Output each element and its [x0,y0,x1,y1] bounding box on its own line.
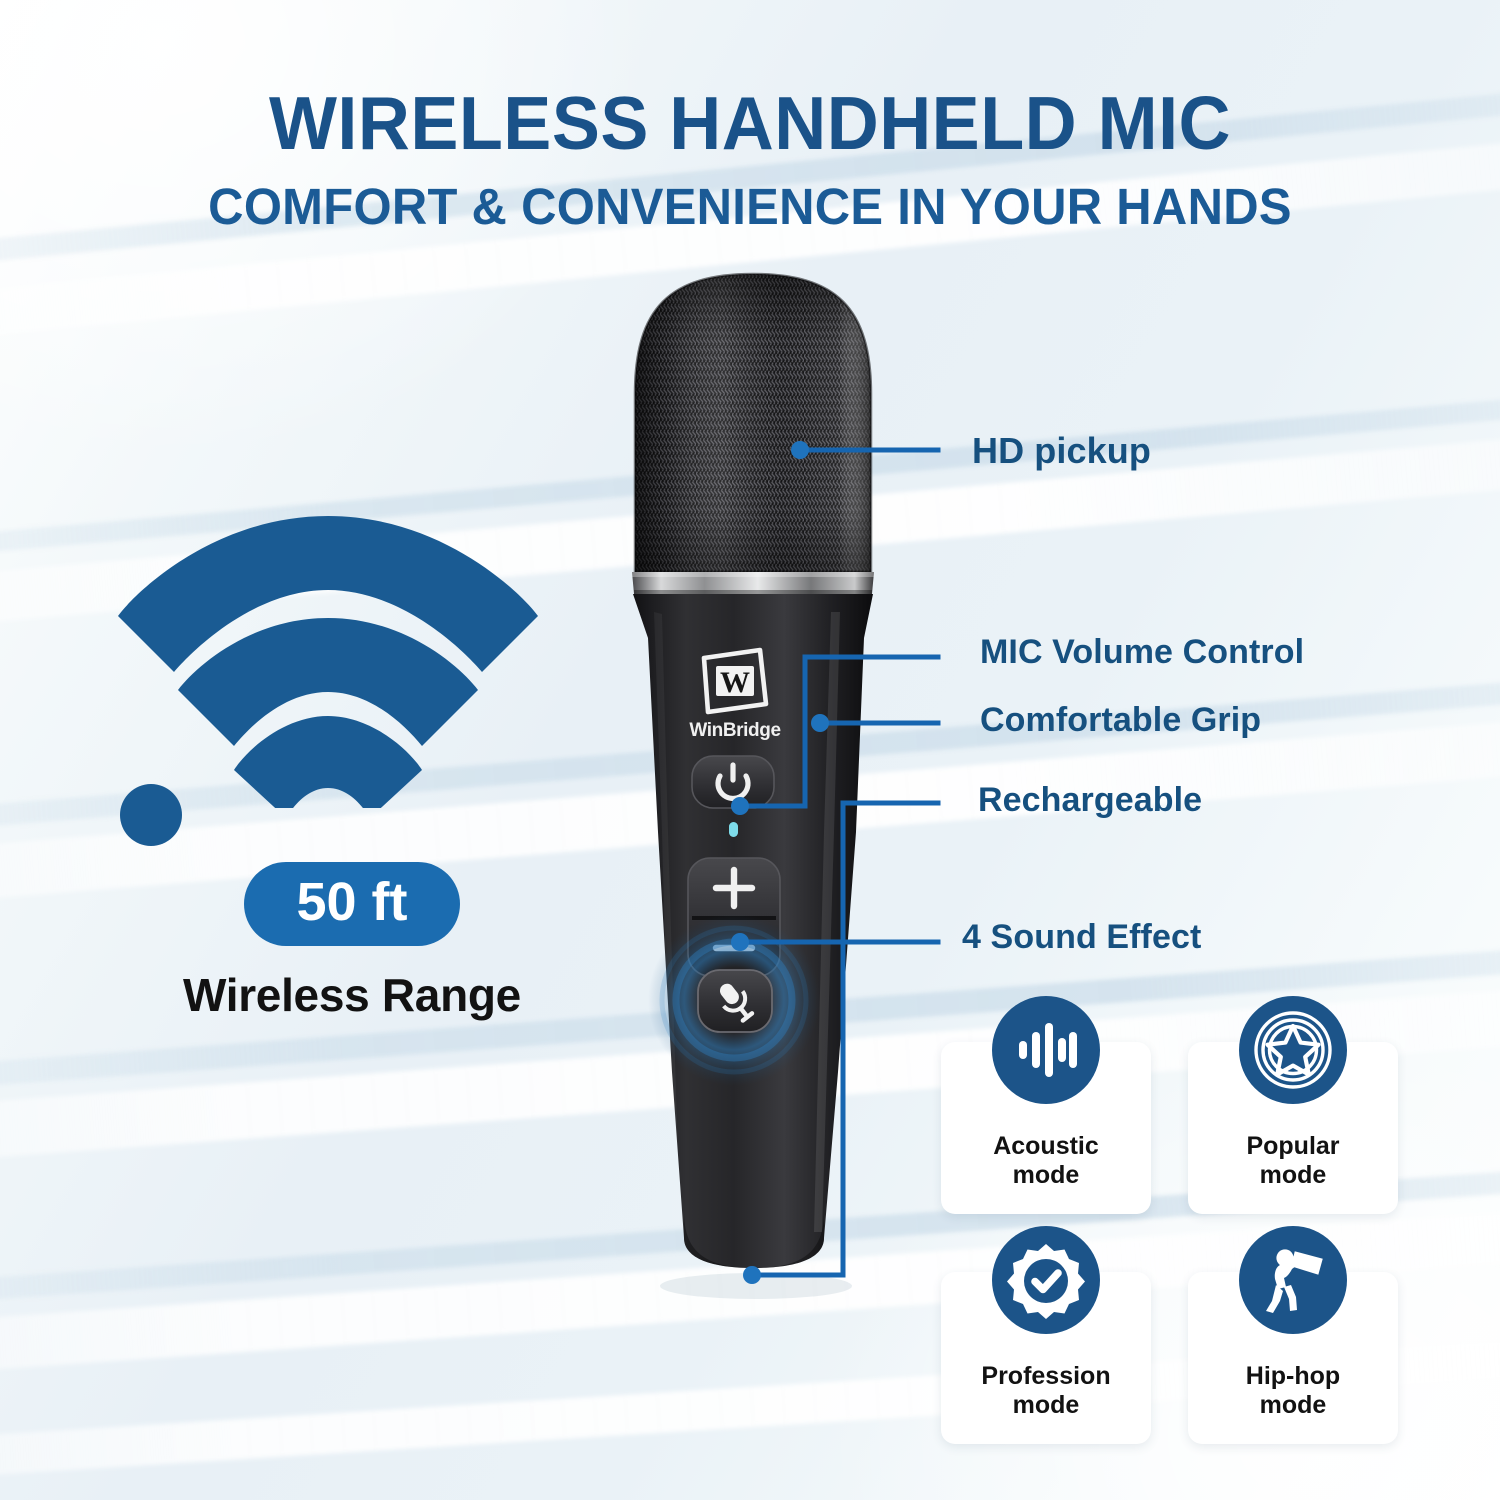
mode-card-label: Profession mode [941,1362,1151,1420]
mode-label-line2: mode [1013,1161,1080,1189]
range-caption: Wireless Range [118,968,586,1022]
page-subtitle: COMFORT & CONVENIENCE IN YOUR HANDS [30,181,1470,232]
mode-label-line1: Hip-hop [1246,1362,1340,1390]
mode-card-profession[interactable]: Profession mode [941,1272,1151,1444]
power-button [692,756,774,808]
microphone-product-image: W WinBridge [588,272,918,1302]
mode-card-label: Hip-hop mode [1188,1362,1398,1420]
mode-label-line1: Popular [1246,1132,1339,1160]
mode-card-hiphop[interactable]: Hip-hop mode [1188,1272,1398,1444]
boombox-person-icon [1239,1226,1347,1334]
mode-label-line1: Acoustic [993,1132,1099,1160]
mode-label-line1: Profession [981,1362,1110,1390]
page-title: WIRELESS HANDHELD MIC [30,86,1470,161]
header-block: WIRELESS HANDHELD MIC COMFORT & CONVENIE… [0,86,1500,232]
brand-name: WinBridge [689,720,780,741]
sound-effect-button [648,914,820,1086]
callout-rechargeable: Rechargeable [978,781,1202,820]
mode-card-acoustic[interactable]: Acoustic mode [941,1042,1151,1214]
mode-card-label: Popular mode [1188,1132,1398,1190]
mode-label-line2: mode [1260,1161,1327,1189]
mode-card-label: Acoustic mode [941,1132,1151,1190]
callout-mic-volume-control: MIC Volume Control [980,633,1304,672]
chrome-ring [632,572,874,594]
wireless-range-block: 50 ft Wireless Range [118,498,586,1022]
mode-label-line2: mode [1260,1391,1327,1419]
led-indicator [729,822,738,837]
mode-label-line2: mode [1013,1391,1080,1419]
svg-text:W: W [720,666,750,699]
range-value-badge: 50 ft [244,862,459,946]
wifi-dot-icon [118,782,184,848]
wifi-signal-icon [118,498,538,808]
product-infographic: WIRELESS HANDHELD MIC COMFORT & CONVENIE… [0,0,1500,1500]
mode-card-popular[interactable]: Popular mode [1188,1042,1398,1214]
callout-comfortable-grip: Comfortable Grip [980,701,1261,740]
waveform-icon [992,996,1100,1104]
microphone-grille-head [628,272,878,578]
callout-hd-pickup: HD pickup [972,430,1151,472]
callout-sound-effect: 4 Sound Effect [962,918,1201,957]
verified-check-icon [992,1226,1100,1334]
star-badge-icon [1239,996,1347,1104]
